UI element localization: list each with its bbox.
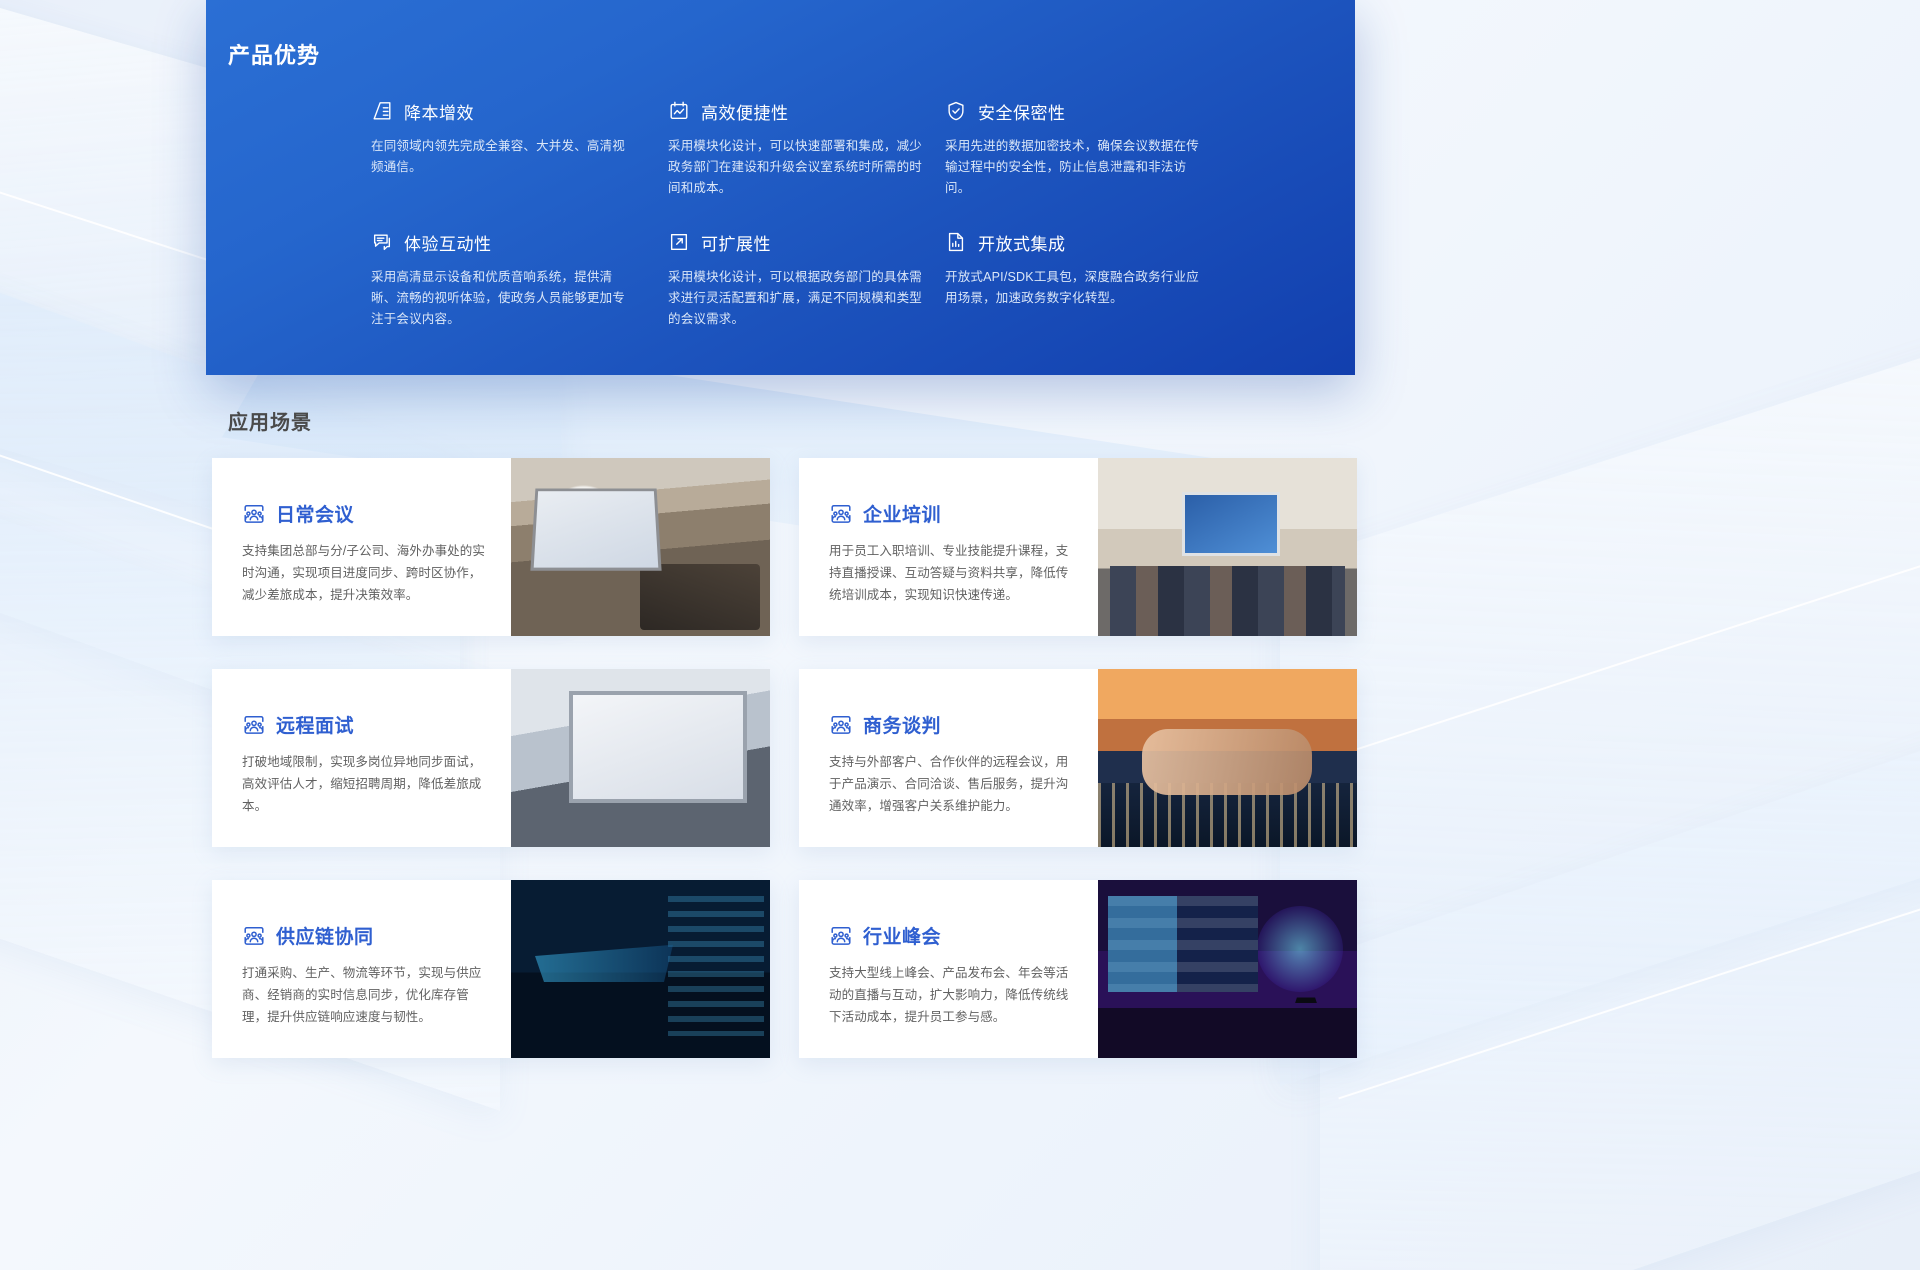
scenario-card-body: 行业峰会支持大型线上峰会、产品发布会、年会等活动的直播与互动，扩大影响力，降低传… [799,880,1098,1058]
scenario-card-header: 远程面试 [242,711,485,738]
scenario-card-photo [1098,458,1357,636]
scenario-card[interactable]: 日常会议支持集团总部与分/子公司、海外办事处的实时沟通，实现项目进度同步、跨时区… [212,458,770,636]
scenario-card[interactable]: 商务谈判支持与外部客户、合作伙伴的远程会议，用于产品演示、合同洽谈、售后服务，提… [799,669,1357,847]
scenario-cards-grid: 日常会议支持集团总部与分/子公司、海外办事处的实时沟通，实现项目进度同步、跨时区… [212,458,1357,1058]
scenario-card-header: 商务谈判 [829,711,1072,738]
advantage-description: 在同领域内领先完成全兼容、大并发、高清视频通信。 [371,136,633,178]
scenario-card-photo [511,880,770,1058]
advantage-item: 降本增效在同领域内领先完成全兼容、大并发、高清视频通信。 [371,96,633,199]
product-advantages-panel: 产品优势 降本增效在同领域内领先完成全兼容、大并发、高清视频通信。高效便捷性采用… [206,0,1355,375]
advantage-description: 采用模块化设计，可以根据政务部门的具体需求进行灵活配置和扩展，满足不同规模和类型… [668,267,930,330]
advantage-item: 开放式集成开放式API/SDK工具包，深度融合政务行业应用场景，加速政务数字化转… [945,227,1207,330]
shield-check-icon [945,100,967,122]
scenario-card-photo [1098,669,1357,847]
advantage-description: 采用高清显示设备和优质音响系统，提供清晰、流畅的视听体验，使政务人员能够更加专注… [371,267,633,330]
scenario-card-header: 行业峰会 [829,922,1072,949]
people-group-icon [829,713,853,737]
scenario-card-description: 支持与外部客户、合作伙伴的远程会议，用于产品演示、合同洽谈、售后服务，提升沟通效… [829,751,1072,817]
people-group-icon [242,502,266,526]
scenario-card-description: 支持大型线上峰会、产品发布会、年会等活动的直播与互动，扩大影响力，降低传统线下活… [829,962,1072,1028]
people-group-icon [242,924,266,948]
scenario-card-description: 用于员工入职培训、专业技能提升课程，支持直播授课、互动答疑与资料共享，降低传统培… [829,540,1072,606]
scenario-card[interactable]: 远程面试打破地域限制，实现多岗位异地同步面试，高效评估人才，缩短招聘周期，降低差… [212,669,770,847]
people-group-icon [829,502,853,526]
advantages-heading: 产品优势 [228,38,320,70]
advantage-header: 降本增效 [371,96,633,126]
scenario-card-title: 企业培训 [863,500,941,527]
external-link-icon [668,231,690,253]
people-group-icon [829,924,853,948]
document-fold-icon [371,100,393,122]
advantage-title: 可扩展性 [701,230,771,255]
scenario-card[interactable]: 供应链协同打通采购、生产、物流等环节，实现与供应商、经销商的实时信息同步，优化库… [212,880,770,1058]
advantages-grid: 降本增效在同领域内领先完成全兼容、大并发、高清视频通信。高效便捷性采用模块化设计… [371,96,1331,330]
advantage-item: 体验互动性采用高清显示设备和优质音响系统，提供清晰、流畅的视听体验，使政务人员能… [371,227,633,330]
advantage-item: 高效便捷性采用模块化设计，可以快速部署和集成，减少政务部门在建设和升级会议室系统… [668,96,930,199]
scenario-card-title: 商务谈判 [863,711,941,738]
advantage-header: 体验互动性 [371,227,633,257]
advantage-title: 降本增效 [404,99,474,124]
scenario-card-body: 供应链协同打通采购、生产、物流等环节，实现与供应商、经销商的实时信息同步，优化库… [212,880,511,1058]
advantage-header: 高效便捷性 [668,96,930,126]
scenario-card-header: 企业培训 [829,500,1072,527]
scenario-card-body: 商务谈判支持与外部客户、合作伙伴的远程会议，用于产品演示、合同洽谈、售后服务，提… [799,669,1098,847]
scenario-card-title: 远程面试 [276,711,354,738]
scenario-card-title: 日常会议 [276,500,354,527]
scenario-card-photo [511,458,770,636]
scenarios-heading: 应用场景 [228,406,312,435]
scenario-card-body: 日常会议支持集团总部与分/子公司、海外办事处的实时沟通，实现项目进度同步、跨时区… [212,458,511,636]
people-group-icon [242,713,266,737]
advantage-header: 安全保密性 [945,96,1207,126]
document-chart-icon [945,231,967,253]
chart-board-icon [668,100,690,122]
scenario-card-description: 打通采购、生产、物流等环节，实现与供应商、经销商的实时信息同步，优化库存管理，提… [242,962,485,1028]
advantage-description: 采用先进的数据加密技术，确保会议数据在传输过程中的安全性，防止信息泄露和非法访问… [945,136,1207,199]
scenario-card-header: 供应链协同 [242,922,485,949]
scenario-card-body: 企业培训用于员工入职培训、专业技能提升课程，支持直播授课、互动答疑与资料共享，降… [799,458,1098,636]
scenario-card-photo [511,669,770,847]
advantage-title: 体验互动性 [404,230,492,255]
advantage-header: 开放式集成 [945,227,1207,257]
scenario-card-description: 支持集团总部与分/子公司、海外办事处的实时沟通，实现项目进度同步、跨时区协作，减… [242,540,485,606]
advantage-item: 安全保密性采用先进的数据加密技术，确保会议数据在传输过程中的安全性，防止信息泄露… [945,96,1207,199]
scenario-card[interactable]: 企业培训用于员工入职培训、专业技能提升课程，支持直播授课、互动答疑与资料共享，降… [799,458,1357,636]
scenario-card-title: 供应链协同 [276,922,374,949]
chat-bubble-icon [371,231,393,253]
scenario-card[interactable]: 行业峰会支持大型线上峰会、产品发布会、年会等活动的直播与互动，扩大影响力，降低传… [799,880,1357,1058]
scenario-card-description: 打破地域限制，实现多岗位异地同步面试，高效评估人才，缩短招聘周期，降低差旅成本。 [242,751,485,817]
scenario-card-photo [1098,880,1357,1058]
advantage-title: 安全保密性 [978,99,1066,124]
scenario-card-body: 远程面试打破地域限制，实现多岗位异地同步面试，高效评估人才，缩短招聘周期，降低差… [212,669,511,847]
advantage-title: 高效便捷性 [701,99,789,124]
scenario-card-title: 行业峰会 [863,922,941,949]
advantage-item: 可扩展性采用模块化设计，可以根据政务部门的具体需求进行灵活配置和扩展，满足不同规… [668,227,930,330]
advantage-description: 开放式API/SDK工具包，深度融合政务行业应用场景，加速政务数字化转型。 [945,267,1207,309]
advantage-header: 可扩展性 [668,227,930,257]
advantage-title: 开放式集成 [978,230,1066,255]
advantage-description: 采用模块化设计，可以快速部署和集成，减少政务部门在建设和升级会议室系统时所需的时… [668,136,930,199]
scenario-card-header: 日常会议 [242,500,485,527]
